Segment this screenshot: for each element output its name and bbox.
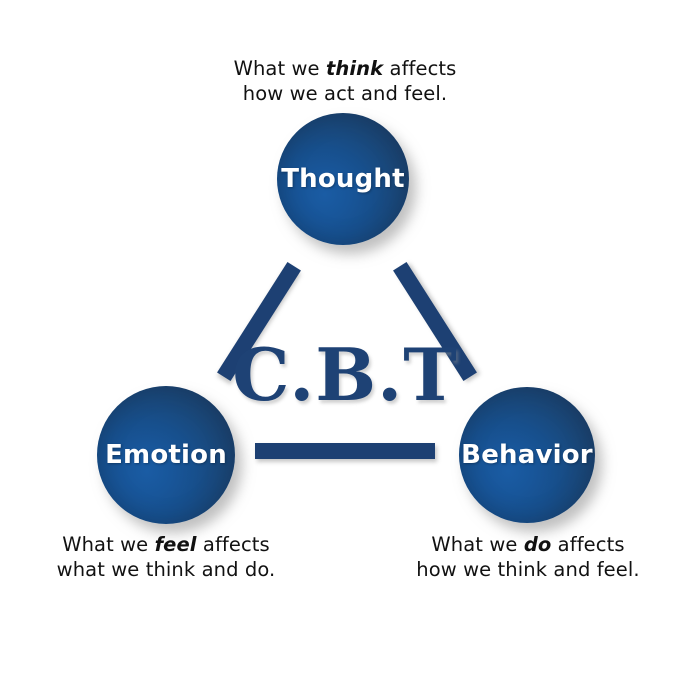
connector-emotion-behavior [255, 443, 435, 459]
caption-behavior: What we do affects how we think and feel… [378, 532, 678, 582]
caption-emotion-line1-before: What we [62, 533, 154, 556]
node-behavior-label: Behavior [461, 440, 593, 470]
cbt-diagram: What we think affects how we act and fee… [0, 0, 690, 690]
node-behavior: Behavior [459, 387, 595, 523]
caption-behavior-line1-after: affects [551, 533, 624, 556]
caption-emotion-keyword: feel [155, 533, 197, 556]
caption-thought: What we think affects how we act and fee… [0, 56, 690, 106]
node-thought-label: Thought [281, 164, 405, 194]
node-emotion: Emotion [97, 386, 235, 524]
caption-behavior-keyword: do [524, 533, 552, 556]
caption-thought-line1: What we think affects [0, 56, 690, 81]
caption-thought-line1-after: affects [383, 57, 456, 80]
caption-behavior-line2: how we think and feel. [378, 557, 678, 582]
caption-emotion-line2: what we think and do. [20, 557, 312, 582]
caption-emotion-line1: What we feel affects [20, 532, 312, 557]
caption-behavior-line1-before: What we [431, 533, 523, 556]
caption-emotion: What we feel affects what we think and d… [20, 532, 312, 582]
cbt-wordmark: C.B.T [0, 337, 690, 413]
caption-thought-line1-before: What we [234, 57, 326, 80]
caption-thought-line2: how we act and feel. [0, 81, 690, 106]
caption-emotion-line1-after: affects [197, 533, 270, 556]
node-emotion-label: Emotion [105, 440, 227, 470]
caption-thought-keyword: think [326, 57, 383, 80]
caption-behavior-line1: What we do affects [378, 532, 678, 557]
node-thought: Thought [277, 113, 409, 245]
